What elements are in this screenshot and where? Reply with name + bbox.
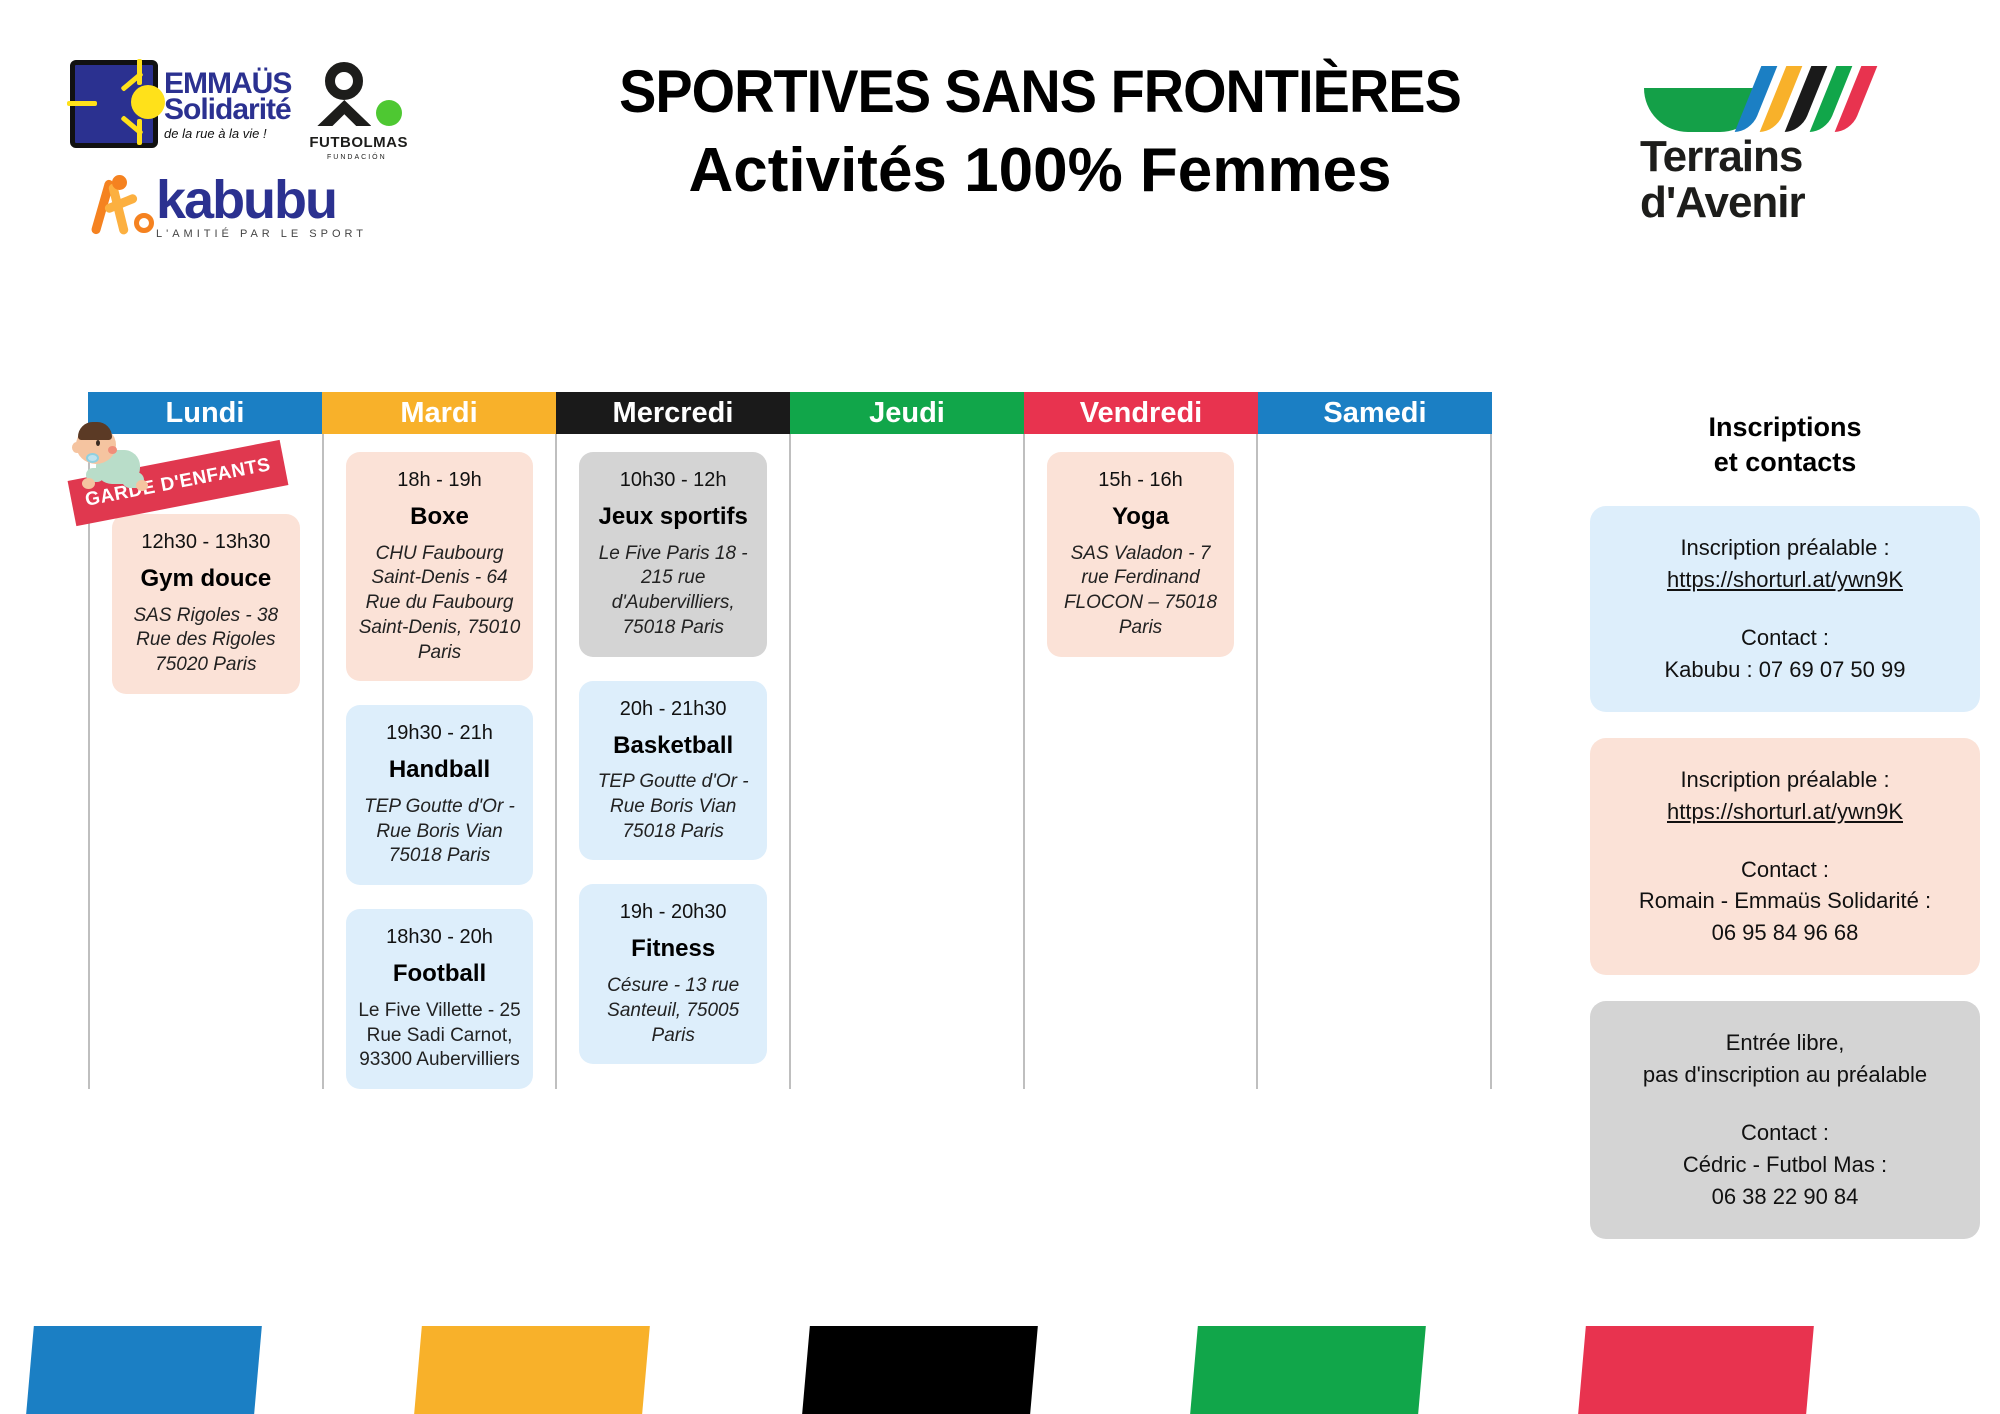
registration-card: Entrée libre,pas d'inscription au préala… xyxy=(1590,1001,1980,1238)
contact-label: Contact : xyxy=(1608,854,1962,886)
registration-note: pas d'inscription au préalable xyxy=(1608,1059,1962,1091)
emmaus-mark-icon xyxy=(70,60,158,148)
activity-location: Le Five Paris 18 - 215 rue d'Aubervillie… xyxy=(589,542,757,641)
day-column-lundi: GARDE D'ENFANTS12h30 - 13h30Gym douceSAS… xyxy=(88,434,324,1089)
kabubu-logo: kabubu L'AMITIÉ PAR LE SPORT xyxy=(92,175,410,240)
terrains-name-line1: Terrains xyxy=(1640,136,1900,178)
activity-card[interactable]: 18h - 19hBoxeCHU Faubourg Saint-Denis - … xyxy=(346,452,534,681)
footer-bar xyxy=(1190,1326,1426,1414)
sidebar-title: Inscriptionset contacts xyxy=(1590,410,1980,480)
activity-card[interactable]: 19h30 - 21hHandballTEP Goutte d'Or - Rue… xyxy=(346,705,534,885)
poster-title: SPORTIVES SANS FRONTIÈRES Activités 100%… xyxy=(540,60,1540,205)
registration-note: Inscription préalable : xyxy=(1608,532,1962,564)
activity-name: Football xyxy=(356,960,524,989)
contact-value: 06 95 84 96 68 xyxy=(1608,917,1962,949)
activity-location: CHU Faubourg Saint-Denis - 64 Rue du Fau… xyxy=(356,542,524,665)
footer-bar xyxy=(1578,1326,1814,1414)
activity-time: 19h30 - 21h xyxy=(356,721,524,746)
emmaus-name-line2: Solidarité xyxy=(164,95,291,125)
partner-logos: EMMAÜS Solidarité de la rue à la vie ! F… xyxy=(70,60,410,310)
footer-bar xyxy=(802,1326,1038,1414)
activity-location: SAS Rigoles - 38 Rue des Rigoles 75020 P… xyxy=(122,604,290,678)
contact-label: Contact : xyxy=(1608,1117,1962,1149)
title-line-1: SPORTIVES SANS FRONTIÈRES xyxy=(575,60,1505,123)
activity-location: SAS Valadon - 7 rue Ferdinand FLOCON – 7… xyxy=(1057,542,1225,641)
contact-label: Contact : xyxy=(1608,622,1962,654)
futbolmas-name: FUTBOLMAS xyxy=(309,134,404,151)
footer-color-bars xyxy=(0,1320,2000,1414)
title-line-2: Activités 100% Femmes xyxy=(540,137,1540,205)
activity-time: 10h30 - 12h xyxy=(589,468,757,493)
contact-value: Cédric - Futbol Mas : xyxy=(1608,1149,1962,1181)
activity-card[interactable]: 10h30 - 12hJeux sportifsLe Five Paris 18… xyxy=(579,452,767,657)
activity-name: Handball xyxy=(356,756,524,785)
day-header-label: Jeudi xyxy=(869,397,945,430)
childcare-badge-label: GARDE D'ENFANTS xyxy=(83,454,272,512)
day-header-mardi[interactable]: Mardi xyxy=(322,392,556,434)
registration-note: Entrée libre, xyxy=(1608,1027,1962,1059)
activity-card[interactable]: 19h - 20h30FitnessCésure - 13 rue Santeu… xyxy=(579,884,767,1064)
emmaus-solidarite-logo: EMMAÜS Solidarité de la rue à la vie ! xyxy=(70,60,291,148)
activity-card[interactable]: 18h30 - 20hFootballLe Five Villette - 25… xyxy=(346,909,534,1089)
kabubu-name: kabubu xyxy=(156,175,367,226)
futbolmas-mark-icon xyxy=(309,60,404,132)
day-header-jeudi[interactable]: Jeudi xyxy=(790,392,1024,434)
sidebar-title-line: et contacts xyxy=(1590,445,1980,480)
activity-name: Basketball xyxy=(589,732,757,761)
emmaus-tagline: de la rue à la vie ! xyxy=(164,127,291,140)
day-column-mardi: 18h - 19hBoxeCHU Faubourg Saint-Denis - … xyxy=(324,434,558,1089)
day-column-jeudi xyxy=(791,434,1025,1089)
activity-time: 20h - 21h30 xyxy=(589,697,757,722)
activity-name: Yoga xyxy=(1057,503,1225,532)
kabubu-mark-icon xyxy=(92,177,150,239)
activity-card[interactable]: 12h30 - 13h30Gym douceSAS Rigoles - 38 R… xyxy=(112,514,300,694)
activity-location: Césure - 13 rue Santeuil, 75005 Paris xyxy=(589,974,757,1048)
activity-name: Boxe xyxy=(356,503,524,532)
activity-time: 18h30 - 20h xyxy=(356,925,524,950)
terrains-swoosh-icon xyxy=(1640,60,1880,132)
registration-card: Inscription préalable :https://shorturl.… xyxy=(1590,506,1980,712)
day-columns: GARDE D'ENFANTS12h30 - 13h30Gym douceSAS… xyxy=(88,434,1492,1089)
activity-time: 19h - 20h30 xyxy=(589,900,757,925)
day-header-vendredi[interactable]: Vendredi xyxy=(1024,392,1258,434)
activity-time: 12h30 - 13h30 xyxy=(122,530,290,555)
registration-sidebar: Inscriptionset contacts Inscription préa… xyxy=(1590,410,1980,1239)
futbolmas-subtitle: FUNDACIÓN xyxy=(309,154,404,161)
activity-card[interactable]: 20h - 21h30BasketballTEP Goutte d'Or - R… xyxy=(579,681,767,861)
activity-name: Jeux sportifs xyxy=(589,503,757,532)
activity-location: TEP Goutte d'Or - Rue Boris Vian 75018 P… xyxy=(589,770,757,844)
day-header-label: Lundi xyxy=(166,397,245,430)
footer-bar xyxy=(26,1326,262,1414)
futbolmas-logo: FUTBOLMAS FUNDACIÓN xyxy=(309,60,404,161)
registration-link[interactable]: https://shorturl.at/ywn9K xyxy=(1667,799,1903,824)
day-column-mercredi: 10h30 - 12hJeux sportifsLe Five Paris 18… xyxy=(557,434,791,1089)
activity-card[interactable]: 15h - 16hYogaSAS Valadon - 7 rue Ferdina… xyxy=(1047,452,1235,657)
sidebar-title-line: Inscriptions xyxy=(1590,410,1980,445)
day-header-label: Samedi xyxy=(1323,397,1426,430)
activity-location: Le Five Villette - 25 Rue Sadi Carnot, 9… xyxy=(356,999,524,1073)
activity-time: 15h - 16h xyxy=(1057,468,1225,493)
poster-header: EMMAÜS Solidarité de la rue à la vie ! F… xyxy=(0,0,2000,330)
registration-note: Inscription préalable : xyxy=(1608,764,1962,796)
kabubu-tagline: L'AMITIÉ PAR LE SPORT xyxy=(156,228,367,240)
day-header-mercredi[interactable]: Mercredi xyxy=(556,392,790,434)
activity-time: 18h - 19h xyxy=(356,468,524,493)
contact-value: Romain - Emmaüs Solidarité : xyxy=(1608,885,1962,917)
activity-name: Gym douce xyxy=(122,565,290,594)
registration-card: Inscription préalable :https://shorturl.… xyxy=(1590,738,1980,975)
activity-name: Fitness xyxy=(589,935,757,964)
day-column-samedi xyxy=(1258,434,1492,1089)
day-header-samedi[interactable]: Samedi xyxy=(1258,392,1492,434)
registration-link[interactable]: https://shorturl.at/ywn9K xyxy=(1667,567,1903,592)
day-column-vendredi: 15h - 16hYogaSAS Valadon - 7 rue Ferdina… xyxy=(1025,434,1259,1089)
terrains-name-line2: d'Avenir xyxy=(1640,182,1900,224)
day-header-row: LundiMardiMercrediJeudiVendrediSamedi xyxy=(88,392,1492,434)
day-header-label: Mardi xyxy=(400,397,477,430)
weekly-schedule: LundiMardiMercrediJeudiVendrediSamedi GA… xyxy=(88,392,1492,1089)
contact-value: Kabubu : 07 69 07 50 99 xyxy=(1608,654,1962,686)
day-header-label: Vendredi xyxy=(1080,397,1203,430)
contact-value: 06 38 22 90 84 xyxy=(1608,1181,1962,1213)
day-header-label: Mercredi xyxy=(613,397,734,430)
footer-bar xyxy=(414,1326,650,1414)
terrains-davenir-logo: Terrains d'Avenir xyxy=(1640,60,1900,240)
activity-location: TEP Goutte d'Or - Rue Boris Vian 75018 P… xyxy=(356,795,524,869)
day-header-lundi[interactable]: Lundi xyxy=(88,392,322,434)
